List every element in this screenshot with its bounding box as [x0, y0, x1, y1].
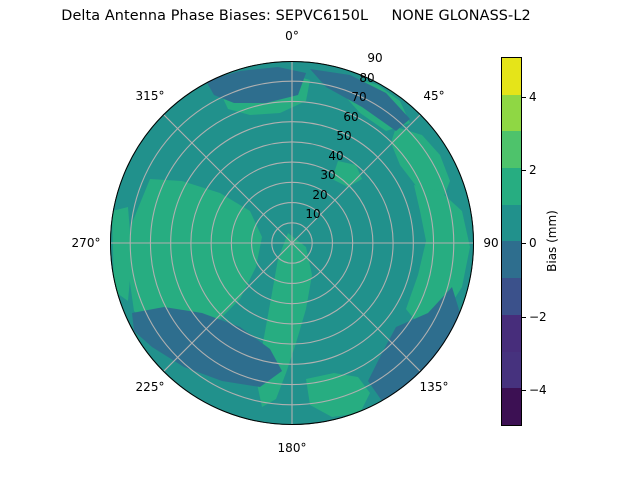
- r-label-50: 50: [336, 129, 351, 143]
- theta-label-180: 180°: [278, 441, 307, 455]
- colorbar-tick-label: 2: [529, 163, 537, 177]
- colorbar-tick-mark: [522, 317, 526, 318]
- r-label-20: 20: [312, 188, 327, 202]
- cb-band-0: [502, 241, 521, 278]
- cb-band--2: [502, 315, 521, 352]
- polar-data-area[interactable]: [110, 61, 474, 425]
- colorbar-tick-label: −2: [529, 310, 547, 324]
- colorbar-tick-mark: [522, 390, 526, 391]
- r-label-80: 80: [359, 71, 374, 85]
- cb-band-1: [502, 205, 521, 242]
- cb-band--1: [502, 278, 521, 315]
- colorbar-axis-label: Bias (mm): [545, 210, 559, 272]
- r-label-90: 90: [367, 51, 382, 65]
- page-title: Delta Antenna Phase Biases: SEPVC6150L N…: [0, 8, 592, 24]
- theta-label-225: 225°: [136, 380, 165, 394]
- cb-band-2: [502, 168, 521, 205]
- cb-band-3: [502, 131, 521, 168]
- r-label-30: 30: [320, 168, 335, 182]
- polar-heatmap-svg: [110, 61, 474, 425]
- cb-band-5: [502, 58, 521, 95]
- r-label-70: 70: [351, 90, 366, 104]
- figure-canvas: Delta Antenna Phase Biases: SEPVC6150L N…: [0, 0, 640, 480]
- cb-band-4: [502, 95, 521, 132]
- theta-label-135: 135°: [420, 380, 449, 394]
- colorbar-tick-mark: [522, 97, 526, 98]
- colorbar-tick-mark: [522, 170, 526, 171]
- colorbar-tick-label: 4: [529, 90, 537, 104]
- r-label-40: 40: [328, 149, 343, 163]
- colorbar-tick-mark: [522, 243, 526, 244]
- cb-band--4: [502, 388, 521, 425]
- theta-label-90: 90: [483, 236, 498, 250]
- colorbar-tick-label: −4: [529, 383, 547, 397]
- colorbar-tick-label: 0: [529, 236, 537, 250]
- colorbar[interactable]: 420−2−4: [501, 57, 522, 426]
- polar-grid-layer: [110, 61, 474, 425]
- r-label-10: 10: [305, 207, 320, 221]
- r-label-60: 60: [343, 110, 358, 124]
- polar-axes[interactable]: [110, 61, 474, 425]
- theta-label-0: 0°: [285, 29, 299, 43]
- cb-band--3: [502, 352, 521, 389]
- theta-label-270: 270°: [72, 236, 101, 250]
- theta-label-315: 315°: [136, 89, 165, 103]
- theta-label-45: 45°: [423, 89, 444, 103]
- colorbar-gradient[interactable]: [501, 57, 522, 426]
